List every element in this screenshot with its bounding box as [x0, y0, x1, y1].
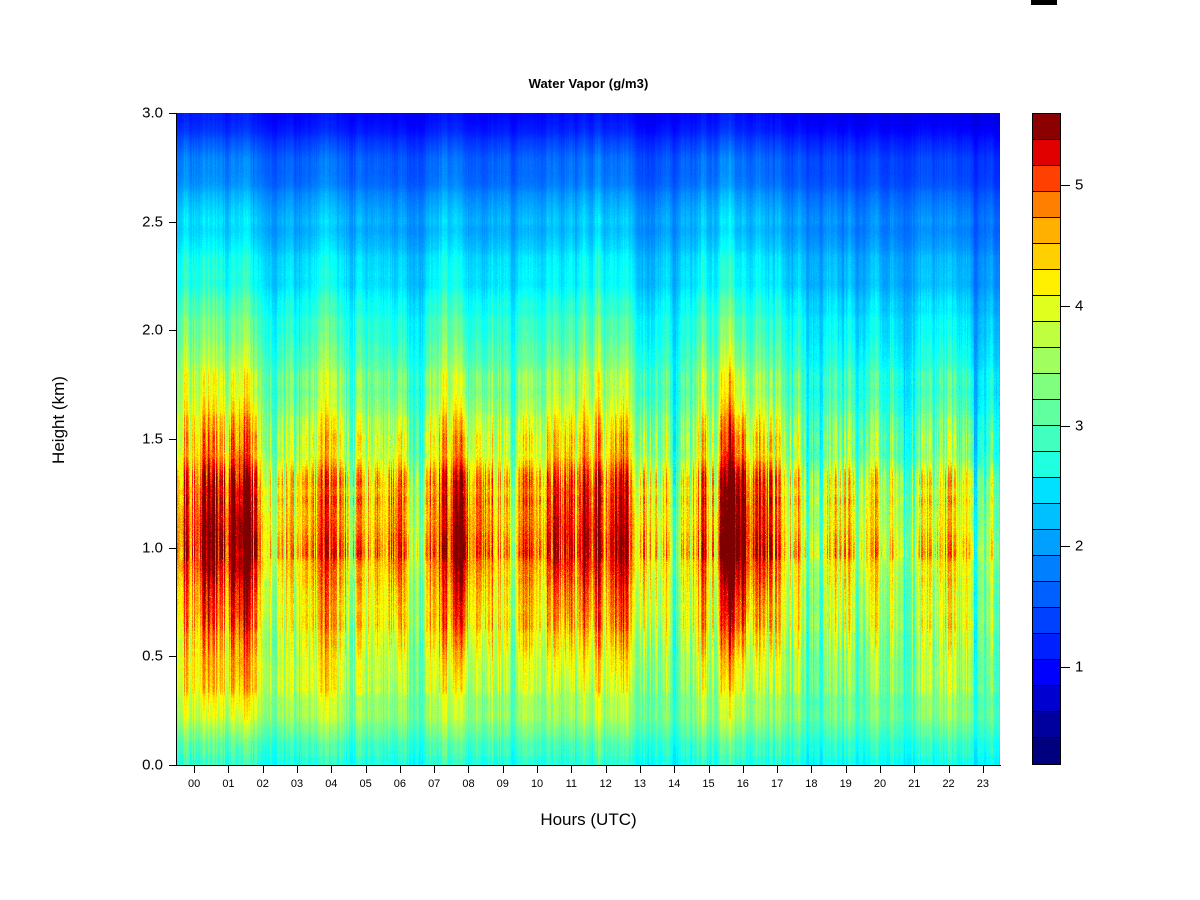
- x-axis-line: [176, 765, 1001, 766]
- colorbar-tick-mark: [1061, 185, 1070, 186]
- colorbar-band: [1033, 738, 1060, 764]
- colorbar-tick-label: 2: [1075, 538, 1083, 555]
- y-tick-mark: [169, 656, 176, 657]
- x-tick-mark: [228, 766, 229, 773]
- x-tick-mark: [194, 766, 195, 773]
- x-tick-mark: [640, 766, 641, 773]
- colorbar-band: [1033, 218, 1060, 244]
- x-tick-mark: [571, 766, 572, 773]
- y-tick-label: 0.0: [103, 757, 163, 774]
- colorbar-gradient: [1032, 113, 1061, 765]
- colorbar-tick-label: 4: [1075, 297, 1083, 314]
- y-tick-label: 1.5: [103, 431, 163, 448]
- x-tick-mark: [777, 766, 778, 773]
- colorbar-band: [1033, 140, 1060, 166]
- chart-canvas: Water Vapor (g/m3) 0.00.51.01.52.02.53.0…: [0, 0, 1200, 900]
- x-tick-mark: [846, 766, 847, 773]
- colorbar-tick-label: 3: [1075, 417, 1083, 434]
- colorbar-band: [1033, 608, 1060, 634]
- x-tick-mark: [743, 766, 744, 773]
- colorbar-band: [1033, 348, 1060, 374]
- colorbar-tick-mark: [1061, 667, 1070, 668]
- y-tick-label: 2.0: [103, 322, 163, 339]
- page-title: Water Vapor (g/m3): [177, 76, 1000, 91]
- colorbar-band: [1033, 166, 1060, 192]
- x-tick-mark: [434, 766, 435, 773]
- colorbar-band: [1033, 556, 1060, 582]
- x-tick-mark: [811, 766, 812, 773]
- colorbar-tick-mark: [1061, 426, 1070, 427]
- x-tick-mark: [400, 766, 401, 773]
- colorbar-tick-label: 5: [1075, 177, 1083, 194]
- colorbar-band: [1033, 452, 1060, 478]
- x-tick-mark: [366, 766, 367, 773]
- colorbar-band: [1033, 114, 1060, 140]
- x-tick-mark: [263, 766, 264, 773]
- colorbar-band: [1033, 712, 1060, 738]
- colorbar-band: [1033, 634, 1060, 660]
- colorbar-band: [1033, 686, 1060, 712]
- colorbar-band: [1033, 530, 1060, 556]
- colorbar-band: [1033, 296, 1060, 322]
- colorbar-band: [1033, 270, 1060, 296]
- colorbar-tick-mark: [1061, 306, 1070, 307]
- colorbar-tick-mark: [1061, 546, 1070, 547]
- colorbar-band: [1033, 478, 1060, 504]
- colorbar-tick-label: 1: [1075, 658, 1083, 675]
- x-tick-mark: [606, 766, 607, 773]
- y-tick-label: 2.5: [103, 213, 163, 230]
- colorbar-band: [1033, 426, 1060, 452]
- x-tick-mark: [468, 766, 469, 773]
- y-tick-mark: [169, 330, 176, 331]
- y-tick-mark: [169, 765, 176, 766]
- heatmap-image: [177, 113, 1000, 765]
- colorbar-band: [1033, 582, 1060, 608]
- y-tick-mark: [169, 113, 176, 114]
- x-tick-mark: [537, 766, 538, 773]
- x-tick-mark: [914, 766, 915, 773]
- colorbar-band: [1033, 660, 1060, 686]
- colorbar-band: [1033, 504, 1060, 530]
- y-axis-line: [176, 113, 177, 766]
- y-axis-title: Height (km): [49, 340, 69, 500]
- x-tick-mark: [983, 766, 984, 773]
- colorbar-band: [1033, 244, 1060, 270]
- y-tick-label: 0.5: [103, 648, 163, 665]
- x-tick-mark: [331, 766, 332, 773]
- colorbar-band: [1033, 192, 1060, 218]
- x-tick-mark: [949, 766, 950, 773]
- top-edge-artifact: [1031, 0, 1057, 5]
- colorbar: 12345: [1032, 113, 1182, 765]
- colorbar-band: [1033, 400, 1060, 426]
- y-tick-label: 1.0: [103, 539, 163, 556]
- y-tick-mark: [169, 439, 176, 440]
- heatmap-plot-area: [177, 113, 1000, 765]
- x-tick-mark: [880, 766, 881, 773]
- y-tick-mark: [169, 548, 176, 549]
- x-tick-label: 23: [963, 778, 1003, 790]
- x-tick-mark: [297, 766, 298, 773]
- colorbar-band: [1033, 322, 1060, 348]
- x-axis-title: Hours (UTC): [177, 810, 1000, 830]
- y-tick-label: 3.0: [103, 105, 163, 122]
- y-tick-mark: [169, 222, 176, 223]
- x-tick-mark: [709, 766, 710, 773]
- x-tick-mark: [674, 766, 675, 773]
- x-tick-mark: [503, 766, 504, 773]
- colorbar-band: [1033, 374, 1060, 400]
